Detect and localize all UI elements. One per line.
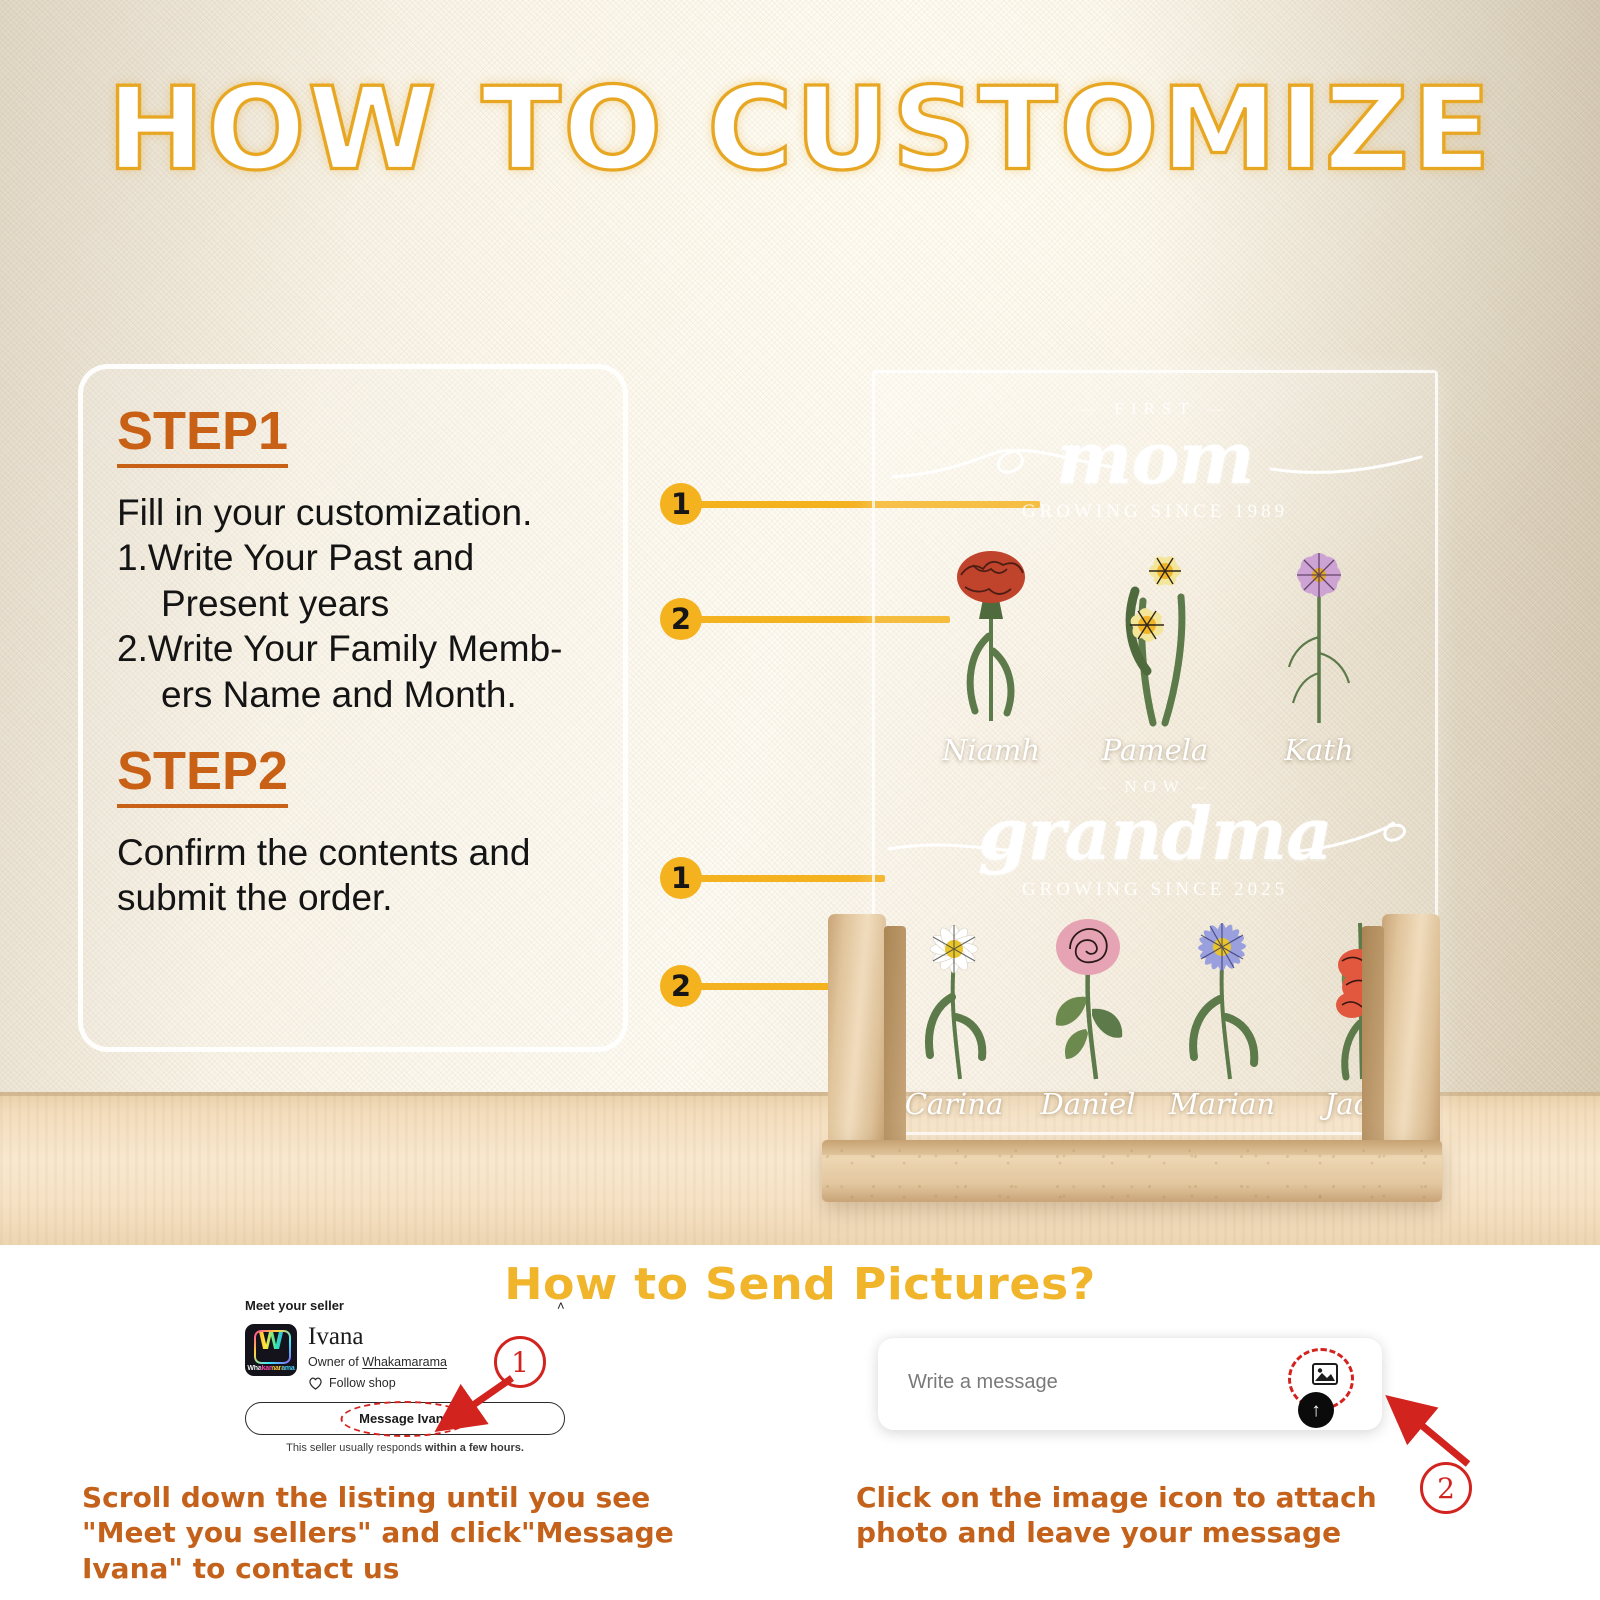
cosmos-flower-icon — [1259, 541, 1379, 731]
send-pictures-title: How to Send Pictures? — [0, 1259, 1600, 1310]
follow-shop-button[interactable]: Follow shop — [308, 1376, 447, 1390]
step2-body: Confirm the contents and submit the orde… — [117, 830, 591, 921]
wooden-stand — [822, 902, 1442, 1202]
avatar[interactable]: W Whakamarama — [245, 1324, 297, 1376]
shop-link[interactable]: Whakamarama — [362, 1355, 447, 1369]
step1-line-0: Fill in your customization. — [117, 490, 591, 536]
page-title: HOW TO CUSTOMIZE — [0, 62, 1600, 196]
infographic-page: HOW TO CUSTOMIZE STEP1 Fill in your cust… — [0, 0, 1600, 1600]
owner-prefix: Owner of — [308, 1355, 362, 1369]
plaque-top-since: GROWING SINCE 1989 — [875, 501, 1435, 523]
response-note-part2: within a few hours. — [425, 1442, 524, 1454]
avatar-shop-name: Whakamarama — [245, 1365, 297, 1372]
step1-body: Fill in your customization. 1.Write Your… — [117, 490, 591, 718]
response-note-part1: This seller usually responds — [286, 1442, 425, 1454]
caption-right: Click on the image icon to attach photo … — [856, 1480, 1456, 1551]
flower-cell: Pamela — [1095, 541, 1215, 767]
callout-badge: 1 — [660, 857, 702, 899]
send-arrow-up-icon[interactable]: ↑ — [1298, 1392, 1334, 1428]
plaque-top-name-0: Niamh — [931, 733, 1051, 767]
callout-badge: 1 — [660, 483, 702, 525]
plaque-top-name-1: Pamela — [1095, 733, 1215, 767]
step2-line-1: submit the order. — [117, 875, 591, 921]
meet-your-seller-label: Meet your seller — [245, 1298, 344, 1313]
step1-heading: STEP1 — [117, 403, 288, 468]
message-composer: Write a message ↑ — [878, 1337, 1382, 1430]
seller-owner-line: Owner of Whakamarama — [308, 1355, 447, 1369]
plaque-bottom-script: grandma — [875, 791, 1435, 876]
seller-card-header: Meet your seller ˅ — [245, 1298, 565, 1313]
caption-left: Scroll down the listing until you see "M… — [82, 1480, 722, 1586]
callout-badge: 2 — [660, 965, 702, 1007]
plaque-bottom-since: GROWING SINCE 2025 — [875, 879, 1435, 901]
red-arrow-2 — [1382, 1392, 1482, 1477]
avatar-letter: W — [245, 1329, 297, 1355]
stand-base — [822, 1140, 1442, 1202]
chevron-up-icon[interactable]: ˅ — [557, 1298, 565, 1313]
daffodil-flower-icon — [1095, 541, 1215, 731]
stand-post-left — [828, 914, 886, 1166]
step1-line-1: 1.Write Your Past and — [117, 535, 591, 581]
flower-cell: Kath — [1259, 541, 1379, 767]
carnation-flower-icon — [931, 541, 1051, 731]
stand-post-right-inner — [1362, 926, 1384, 1166]
plaque-top-name-2: Kath — [1259, 733, 1379, 767]
step1-line-2: Present years — [117, 581, 591, 627]
callout-badge: 2 — [660, 598, 702, 640]
message-input[interactable]: Write a message — [908, 1371, 1058, 1394]
seller-details: Ivana Owner of Whakamarama Follow shop — [308, 1324, 447, 1390]
heart-icon — [308, 1376, 323, 1390]
steps-panel: STEP1 Fill in your customization. 1.Writ… — [78, 364, 628, 1052]
plaque-top-script: mom — [875, 415, 1435, 500]
callout-marker-1b: 1 — [660, 857, 885, 899]
follow-shop-label: Follow shop — [329, 1376, 396, 1390]
plaque-top-flower-row: Niamh — [875, 541, 1435, 767]
flower-cell: Niamh — [931, 541, 1051, 767]
step2-line-0: Confirm the contents and — [117, 830, 591, 876]
callout-marker-2b: 2 — [660, 965, 845, 1007]
seller-response-note: This seller usually responds within a fe… — [245, 1442, 565, 1454]
step1-line-4: ers Name and Month. — [117, 672, 591, 718]
product-scene: HOW TO CUSTOMIZE STEP1 Fill in your cust… — [0, 0, 1600, 1245]
step1-line-3: 2.Write Your Family Memb- — [117, 626, 591, 672]
step2-heading: STEP2 — [117, 743, 288, 808]
stand-post-left-inner — [884, 926, 906, 1166]
callout-line — [700, 875, 885, 882]
stand-base-texture — [822, 1140, 1442, 1202]
red-marker-1: 1 — [494, 1336, 546, 1388]
stand-post-right — [1382, 914, 1440, 1166]
seller-name: Ivana — [308, 1324, 447, 1350]
